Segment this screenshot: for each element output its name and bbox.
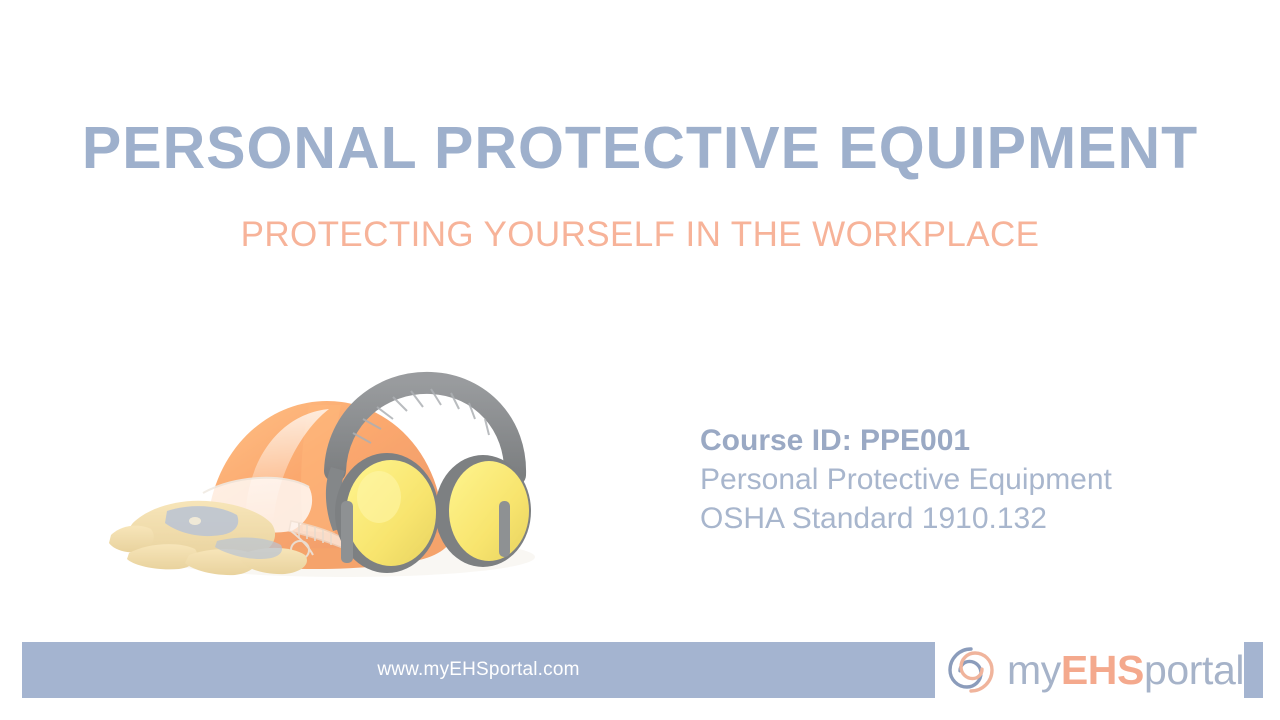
logo-wordmark: myEHSportal <box>1007 650 1244 691</box>
logo-text-portal: portal <box>1144 647 1244 693</box>
myehsportal-logo[interactable]: myEHSportal <box>944 640 1244 700</box>
page-subtitle: PROTECTING YOURSELF IN THE WORKPLACE <box>0 216 1280 255</box>
osha-standard-line: OSHA Standard 1910.132 <box>700 499 1240 538</box>
course-id-line: Course ID: PPE001 <box>700 421 1240 460</box>
footer-url[interactable]: www.myEHSportal.com <box>22 642 935 698</box>
page-title: PERSONAL PROTECTIVE EQUIPMENT <box>0 118 1280 180</box>
logo-text-my: my <box>1007 647 1061 693</box>
spiral-logo-icon <box>944 643 998 697</box>
footer-bar: www.myEHSportal.com <box>22 642 935 698</box>
footer-accent-bar <box>1244 642 1263 698</box>
logo-text-ehs: EHS <box>1061 647 1144 693</box>
ppe-equipment-image <box>95 325 555 585</box>
slide-canvas: PERSONAL PROTECTIVE EQUIPMENT PROTECTING… <box>0 0 1280 720</box>
course-name-line: Personal Protective Equipment <box>700 460 1240 499</box>
course-info-block: Course ID: PPE001 Personal Protective Eq… <box>700 421 1240 538</box>
